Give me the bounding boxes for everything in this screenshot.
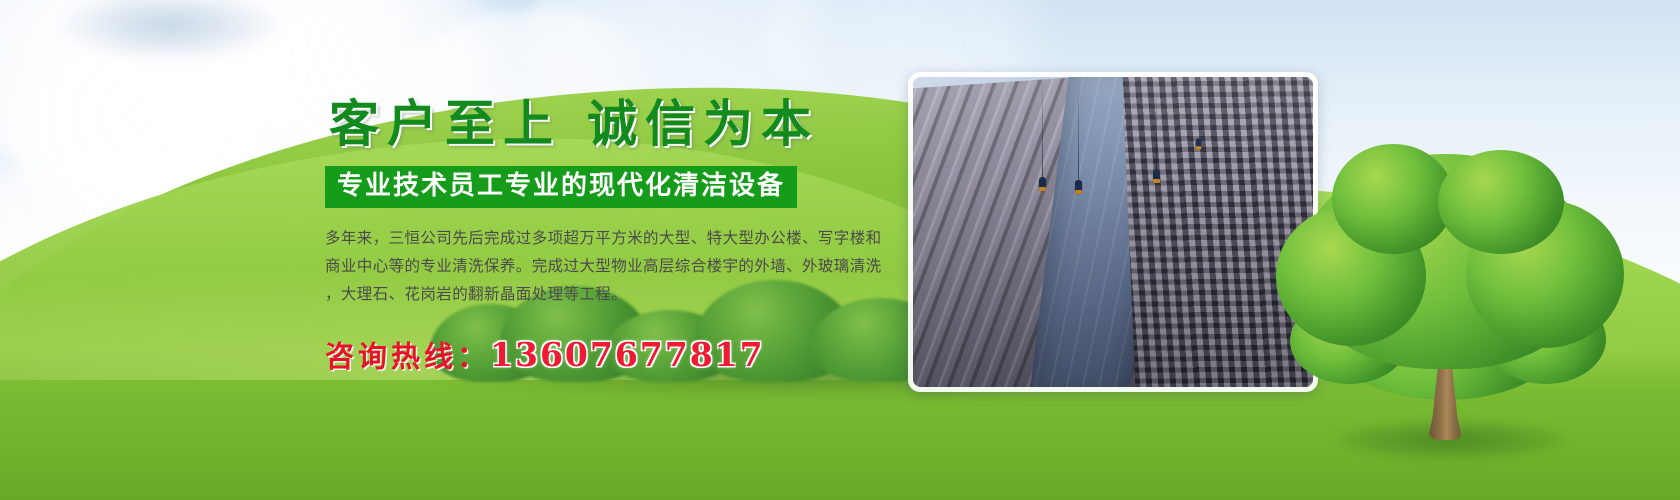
promo-banner: 客户至上诚信为本 专业技术员工专业的现代化清洁设备 多年来，三恒公司先后完成过多… — [0, 0, 1680, 500]
cloud-wisp — [60, 0, 280, 60]
photo-vignette — [913, 77, 1313, 387]
headline: 客户至上诚信为本 — [329, 96, 905, 152]
subtitle-bar: 专业技术员工专业的现代化清洁设备 — [325, 166, 797, 208]
body-line-3: ，大理石、花岗岩的翻新晶面处理等工程。 — [325, 280, 895, 308]
hotline-mobile-number[interactable]: 13607677817 — [490, 335, 765, 374]
body-paragraph: 多年来，三恒公司先后完成过多项超万平方米的大型、特大型办公楼、写字楼和 商业中心… — [325, 224, 895, 308]
body-line-2: 商业中心等的专业清洗保养。完成过大型物业高层综合楼宇的外墙、外玻璃清洗 — [325, 252, 895, 280]
building-photo — [913, 77, 1313, 387]
hotline-block: 咨询热线：13607677817 0371-60996760 — [325, 330, 905, 379]
body-line-1: 多年来，三恒公司先后完成过多项超万平方米的大型、特大型办公楼、写字楼和 — [325, 224, 895, 252]
headline-part-1: 客户至上 — [329, 94, 561, 153]
building-photo-card[interactable] — [908, 72, 1318, 392]
banner-copy: 客户至上诚信为本 专业技术员工专业的现代化清洁设备 多年来，三恒公司先后完成过多… — [325, 96, 905, 379]
hotline-label: 咨询热线： — [325, 340, 490, 374]
headline-part-2: 诚信为本 — [587, 94, 819, 153]
